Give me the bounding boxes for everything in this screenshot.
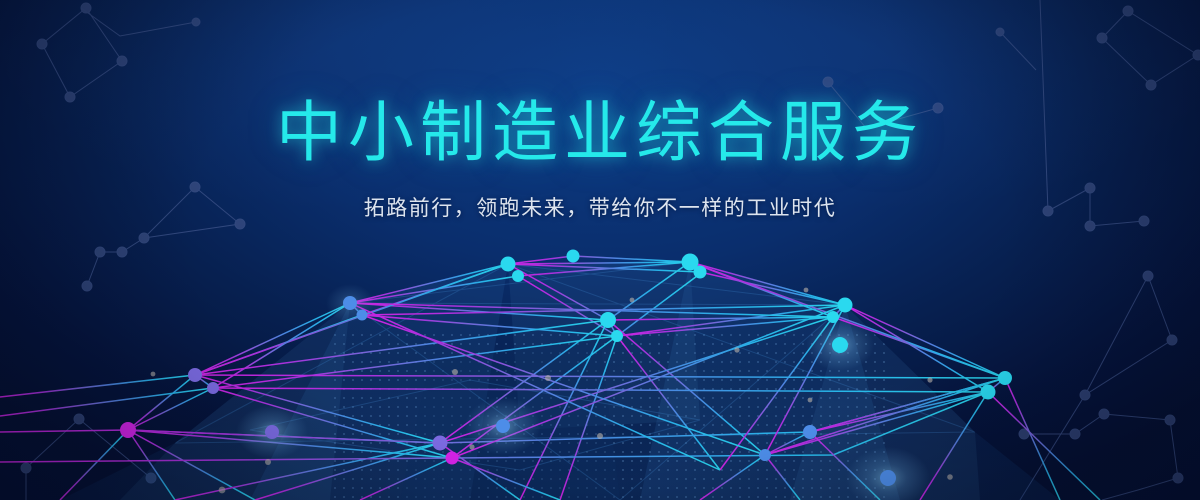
background-vignette <box>0 0 1200 500</box>
hero-banner: 中小制造业综合服务 拓路前行，领跑未来，带给你不一样的工业时代 <box>0 0 1200 500</box>
